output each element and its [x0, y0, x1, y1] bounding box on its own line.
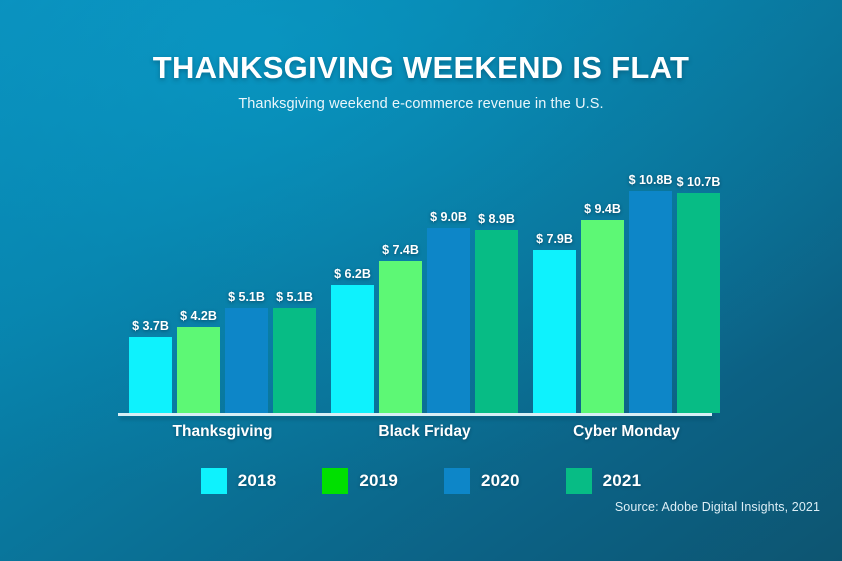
infographic-canvas: THANKSGIVING WEEKEND IS FLAT Thanksgivin…	[0, 0, 842, 561]
bar-column[interactable]: $ 5.1B	[273, 286, 316, 413]
category-label: Black Friday	[331, 423, 518, 441]
bar-value-label: $ 9.4B	[584, 202, 621, 216]
bar-value-label: $ 7.9B	[536, 232, 573, 246]
bar[interactable]	[273, 308, 316, 413]
bar-value-label: $ 5.1B	[276, 290, 313, 304]
bar-value-label: $ 5.1B	[228, 290, 265, 304]
bar[interactable]	[177, 327, 220, 413]
bar-value-label: $ 7.4B	[382, 243, 419, 257]
legend-swatch-icon	[444, 468, 470, 494]
bar-column[interactable]: $ 9.4B	[581, 198, 624, 413]
bar[interactable]	[129, 337, 172, 413]
bar[interactable]	[475, 230, 518, 413]
legend-label: 2019	[359, 471, 398, 491]
bar-value-label: $ 4.2B	[180, 309, 217, 323]
bar-column[interactable]: $ 9.0B	[427, 206, 470, 413]
legend-label: 2021	[603, 471, 642, 491]
bar[interactable]	[533, 250, 576, 413]
legend-item[interactable]: 2021	[566, 468, 642, 494]
chart-legend: 2018201920202021	[0, 468, 842, 494]
bar[interactable]	[331, 285, 374, 413]
legend-swatch-icon	[322, 468, 348, 494]
bar-value-label: $ 9.0B	[430, 210, 467, 224]
legend-item[interactable]: 2020	[444, 468, 520, 494]
bar-value-label: $ 6.2B	[334, 267, 371, 281]
bar-column[interactable]: $ 6.2B	[331, 263, 374, 413]
bar-column[interactable]: $ 10.8B	[629, 169, 672, 413]
bar[interactable]	[379, 261, 422, 413]
axis-baseline-shadow	[120, 416, 714, 420]
bar-column[interactable]: $ 10.7B	[677, 171, 720, 413]
legend-item[interactable]: 2019	[322, 468, 398, 494]
category-label: Cyber Monday	[533, 423, 720, 441]
bar[interactable]	[581, 220, 624, 413]
bar-value-label: $ 10.7B	[677, 175, 721, 189]
page-subtitle: Thanksgiving weekend e-commerce revenue …	[0, 96, 842, 112]
bar-group: $ 7.9B$ 9.4B$ 10.8B$ 10.7B	[533, 130, 720, 413]
source-note: Source: Adobe Digital Insights, 2021	[615, 500, 820, 514]
legend-swatch-icon	[566, 468, 592, 494]
chart-header: THANKSGIVING WEEKEND IS FLAT Thanksgivin…	[0, 50, 842, 112]
bar-group: $ 6.2B$ 7.4B$ 9.0B$ 8.9B	[331, 130, 518, 413]
legend-label: 2018	[238, 471, 277, 491]
bar-column[interactable]: $ 3.7B	[129, 315, 172, 413]
bar[interactable]	[225, 308, 268, 413]
bar-group: $ 3.7B$ 4.2B$ 5.1B$ 5.1B	[129, 130, 316, 413]
bar-value-label: $ 3.7B	[132, 319, 169, 333]
bar[interactable]	[427, 228, 470, 413]
bar-column[interactable]: $ 7.9B	[533, 228, 576, 413]
axis-baseline	[118, 413, 712, 416]
page-title: THANKSGIVING WEEKEND IS FLAT	[0, 50, 842, 86]
bar-column[interactable]: $ 4.2B	[177, 305, 220, 413]
bar-value-label: $ 10.8B	[629, 173, 673, 187]
category-axis-labels: ThanksgivingBlack FridayCyber Monday	[118, 423, 712, 447]
bar[interactable]	[629, 191, 672, 413]
bar-chart-plot-area: $ 3.7B$ 4.2B$ 5.1B$ 5.1B$ 6.2B$ 7.4B$ 9.…	[118, 130, 712, 413]
bar-column[interactable]: $ 5.1B	[225, 286, 268, 413]
legend-swatch-icon	[201, 468, 227, 494]
legend-item[interactable]: 2018	[201, 468, 277, 494]
legend-label: 2020	[481, 471, 520, 491]
bar-value-label: $ 8.9B	[478, 212, 515, 226]
bar-column[interactable]: $ 7.4B	[379, 239, 422, 413]
bar[interactable]	[677, 193, 720, 413]
category-label: Thanksgiving	[129, 423, 316, 441]
bar-column[interactable]: $ 8.9B	[475, 208, 518, 413]
